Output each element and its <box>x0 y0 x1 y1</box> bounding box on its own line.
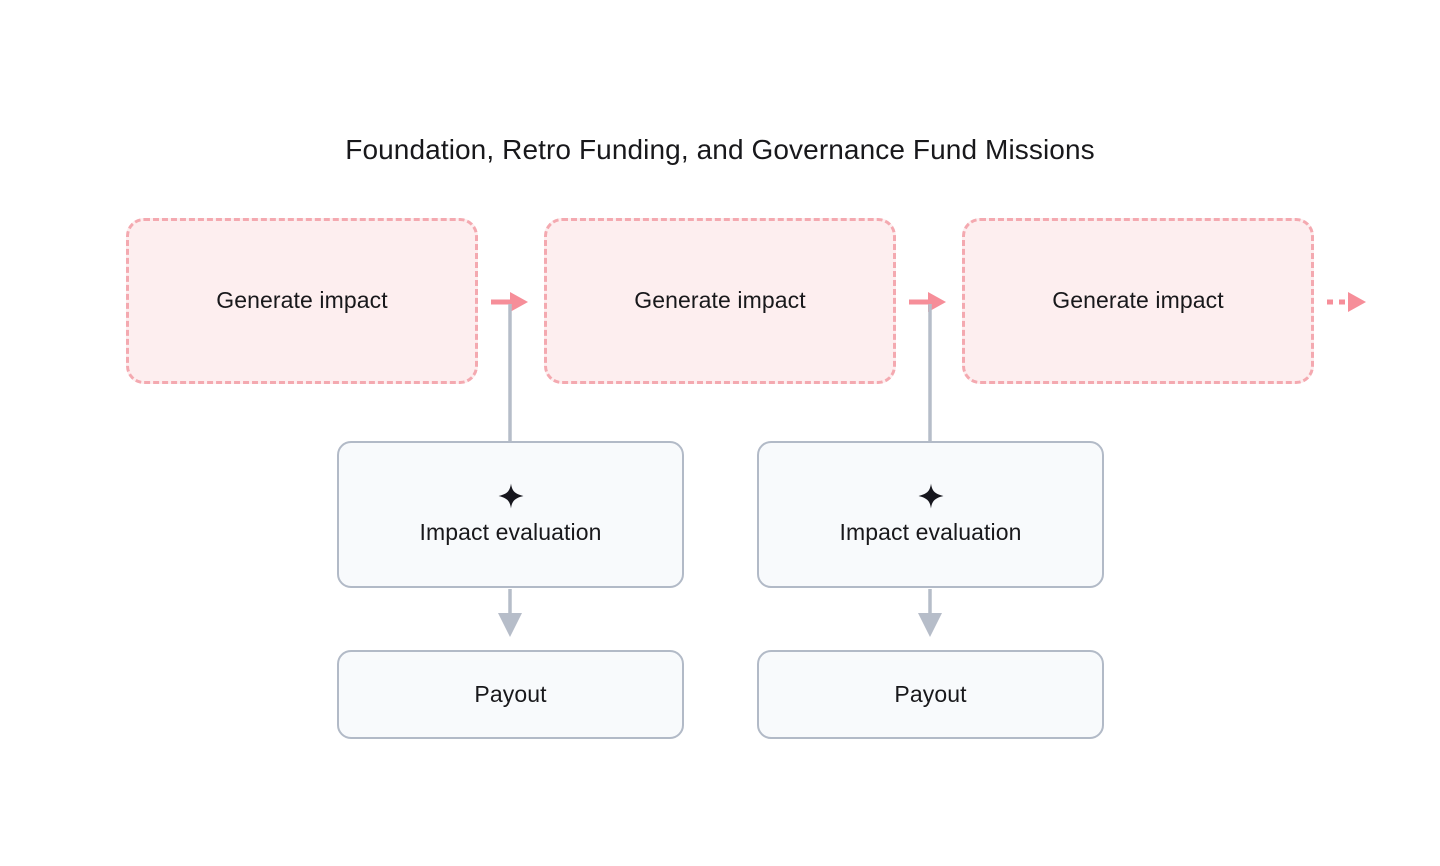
arrow-right-icon <box>491 292 528 312</box>
mission-box-generate-impact-2[interactable]: Generate impact <box>544 218 896 384</box>
page-title: Foundation, Retro Funding, and Governanc… <box>0 131 1440 169</box>
mission-label: Generate impact <box>634 287 806 315</box>
mission-box-generate-impact-3[interactable]: Generate impact <box>962 218 1314 384</box>
impact-evaluation-box-1[interactable]: Impact evaluation <box>337 441 684 588</box>
payout-box-2[interactable]: Payout <box>757 650 1104 739</box>
sparkle-icon <box>498 483 524 509</box>
connector-layer <box>0 0 1440 866</box>
arrow-down-icon <box>918 589 942 637</box>
arrow-right-dashed-icon <box>1327 292 1366 312</box>
impact-evaluation-label: Impact evaluation <box>420 519 602 547</box>
mission-label: Generate impact <box>216 287 388 315</box>
mission-box-generate-impact-1[interactable]: Generate impact <box>126 218 478 384</box>
payout-label: Payout <box>894 681 966 709</box>
sparkle-icon <box>918 483 944 509</box>
arrow-down-icon <box>498 589 522 637</box>
diagram-canvas: Foundation, Retro Funding, and Governanc… <box>0 0 1440 866</box>
impact-evaluation-box-2[interactable]: Impact evaluation <box>757 441 1104 588</box>
payout-label: Payout <box>474 681 546 709</box>
mission-label: Generate impact <box>1052 287 1224 315</box>
payout-box-1[interactable]: Payout <box>337 650 684 739</box>
arrow-right-icon <box>909 292 946 312</box>
impact-evaluation-label: Impact evaluation <box>840 519 1022 547</box>
